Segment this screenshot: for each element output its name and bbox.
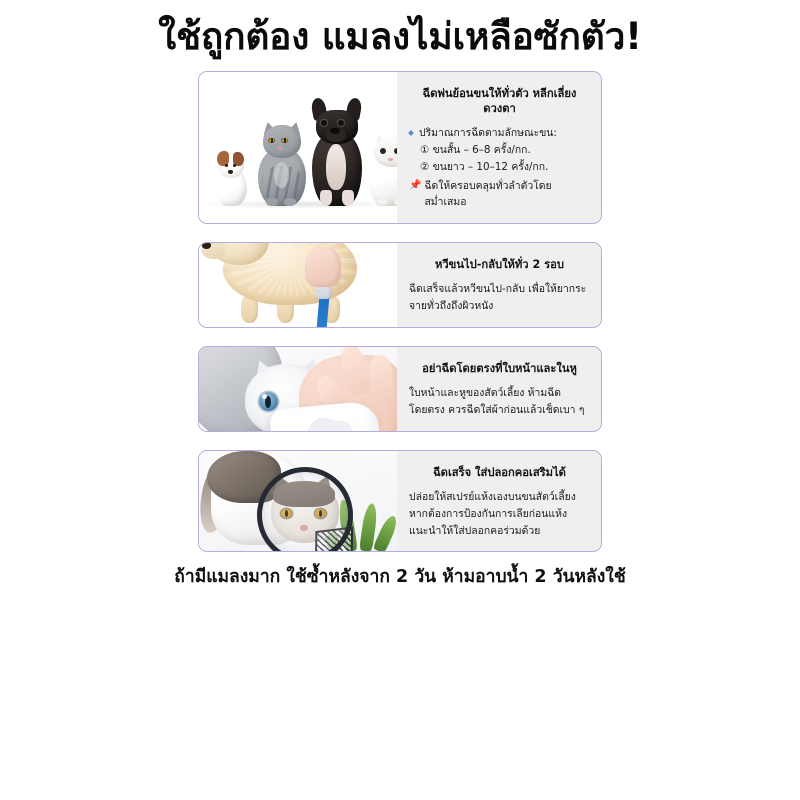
step-1-image: [199, 72, 397, 224]
human-hand: [305, 247, 341, 287]
step-3-description: ใบหน้าและหูของสัตว์เลี้ยง ห้ามฉีดโดยตรง …: [409, 385, 590, 419]
step-4-title: ฉีดเสร็จ ใส่ปลอกคอเสริมได้: [409, 465, 590, 480]
step-1-text-panel: ฉีดพ่นย้อนขนให้ทั่วตัว หลีกเลี่ยงดวงตา ป…: [397, 72, 601, 224]
step-1-item-short-hair: ① ขนสั้น – 6–8 ครั้ง/กก.: [409, 142, 590, 159]
footer-note: ถ้ามีแมลงมาก ใช้ซ้ำหลังจาก 2 วัน ห้ามอาบ…: [174, 562, 625, 590]
french-bulldog-figure: [309, 94, 365, 206]
step-card-use-collar-after: ฉีดเสร็จ ใส่ปลอกคอเสริมได้ ปล่อยให้สเปรย…: [198, 450, 602, 553]
step-1-pin-row: 📌 ฉีดให้ครอบคลุมทั่วลำตัวโดยสม่ำเสมอ: [409, 178, 590, 212]
step-3-title: อย่าฉีดโดยตรงที่ใบหน้าและในหู: [409, 361, 590, 376]
step-2-image: [199, 243, 397, 327]
step-3-text-panel: อย่าฉีดโดยตรงที่ใบหน้าและในหู ใบหน้าและห…: [397, 347, 601, 431]
step-4-description: ปล่อยให้สเปรย์แห้งเองบนขนสัตว์เลี้ยง หาก…: [409, 489, 590, 540]
jack-russell-puppy-figure: [212, 148, 252, 206]
cat-with-cone-collar-illustration: [199, 451, 397, 552]
step-4-image: [199, 451, 397, 552]
step-1-bullet-row: ปริมาณการฉีดตามลักษณะขน:: [409, 125, 590, 142]
pushpin-icon: 📌: [409, 178, 421, 194]
cat-face-wiping-illustration: [199, 347, 397, 431]
white-exotic-cat-figure: [368, 134, 397, 206]
step-3-image: [199, 347, 397, 431]
step-1-bullet-label: ปริมาณการฉีดตามลักษณะขน:: [419, 125, 557, 142]
grey-cat-figure: [256, 120, 308, 206]
step-1-item-long-hair: ② ขนยาว – 10–12 ครั้ง/กก.: [409, 159, 590, 176]
step-card-comb-two-rounds: หวีขนไป-กลับให้ทั่ว 2 รอบ ฉีดเสร็จแล้วหว…: [198, 242, 602, 328]
step-1-pin-text: ฉีดให้ครอบคลุมทั่วลำตัวโดยสม่ำเสมอ: [424, 178, 590, 212]
pets-group-illustration: [199, 72, 397, 224]
step-1-title: ฉีดพ่นย้อนขนให้ทั่วตัว หลีกเลี่ยงดวงตา: [409, 86, 590, 116]
step-card-avoid-face-and-ears: อย่าฉีดโดยตรงที่ใบหน้าและในหู ใบหน้าและห…: [198, 346, 602, 432]
pomeranian-combing-illustration: [199, 243, 397, 327]
step-2-description: ฉีดเสร็จแล้วหวีขนไป-กลับ เพื่อให้ยากระจา…: [409, 281, 590, 315]
infographic-page: ใช้ถูกต้อง แมลงไม่เหลือซักตัว!: [0, 0, 800, 800]
step-4-text-panel: ฉีดเสร็จ ใส่ปลอกคอเสริมได้ ปล่อยให้สเปรย…: [397, 451, 601, 552]
elizabethan-collar: [257, 467, 353, 552]
step-2-title: หวีขนไป-กลับให้ทั่ว 2 รอบ: [409, 257, 590, 272]
diamond-bullet-icon: [408, 130, 414, 136]
step-card-spray-against-fur: ฉีดพ่นย้อนขนให้ทั่วตัว หลีกเลี่ยงดวงตา ป…: [198, 71, 602, 225]
step-2-text-panel: หวีขนไป-กลับให้ทั่ว 2 รอบ ฉีดเสร็จแล้วหว…: [397, 243, 601, 327]
page-title: ใช้ถูกต้อง แมลงไม่เหลือซักตัว!: [158, 16, 642, 59]
steps-card-list: ฉีดพ่นย้อนขนให้ทั่วตัว หลีกเลี่ยงดวงตา ป…: [198, 71, 602, 553]
